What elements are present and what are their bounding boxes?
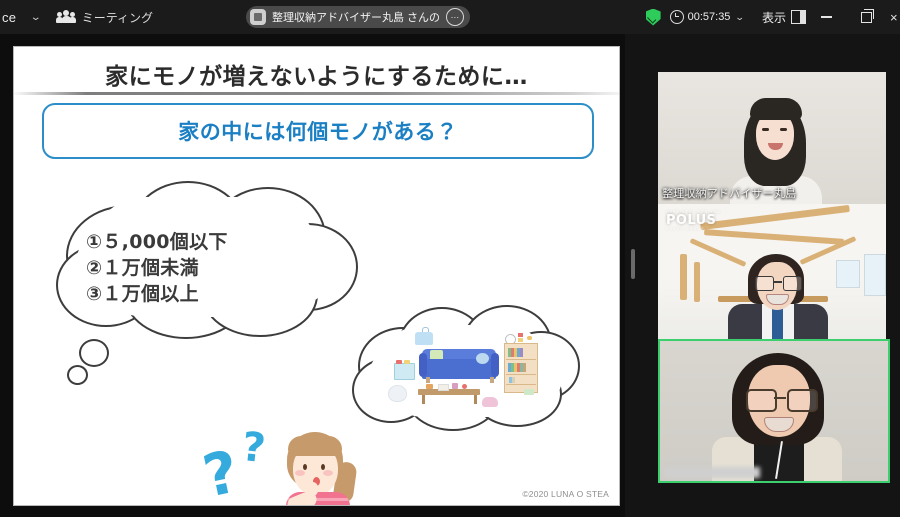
bookshelf-illustration: [504, 343, 538, 393]
meeting-indicator[interactable]: ミーティング: [57, 9, 153, 26]
answer-options: ①５,000個以下 ②１万個未満 ③１万個以上: [86, 229, 336, 307]
stuffed-toy-illustration: [482, 397, 498, 407]
slide-copyright: ©2020 LUNA O STEA: [522, 489, 609, 499]
answer-option-3: ③１万個以上: [86, 281, 336, 307]
participant-tile-3-active-speaker[interactable]: [658, 339, 890, 483]
question-mark-large: ?: [197, 437, 244, 506]
close-button[interactable]: ×: [886, 0, 900, 34]
meeting-timer[interactable]: 00:57:35 ⌄: [670, 10, 744, 24]
clock-icon: [670, 10, 684, 24]
window-titlebar: ce ⌄ ミーティング 整理収納アドバイザー丸島 さんの … 00:57:35 …: [0, 0, 900, 34]
thought-bubble-tail-small: [67, 365, 88, 385]
toy-yellow: [404, 360, 410, 364]
polus-watermark: HAPPINESS FOR YOU POLUS POLUS GROUP: [666, 210, 721, 231]
chevron-down-icon[interactable]: ⌄: [735, 12, 745, 23]
sofa-arm-left: [419, 353, 427, 377]
thinking-girl-illustration: [269, 432, 374, 506]
teams-meeting-window: ce ⌄ ミーティング 整理収納アドバイザー丸島 さんの … 00:57:35 …: [0, 0, 900, 517]
toy-red: [396, 360, 402, 364]
table-clutter: [452, 383, 458, 389]
layout-view-icon: [791, 10, 806, 24]
sofa-arm-right: [491, 353, 499, 377]
panel-resize-handle[interactable]: [628, 34, 638, 517]
room-thought-bubble: [352, 305, 577, 430]
close-icon: ×: [890, 10, 898, 25]
small-box-red: [518, 333, 523, 337]
answer-option-1: ①５,000個以下: [86, 229, 336, 255]
more-options-icon[interactable]: …: [446, 8, 464, 26]
sofa-leg: [490, 377, 494, 383]
timer-value: 00:57:35: [688, 11, 731, 23]
titlebar-right-cluster: 00:57:35 ⌄ 表示 ×: [646, 0, 900, 34]
low-table-illustration: [418, 389, 480, 395]
title-divider-rule: [14, 92, 619, 95]
people-group-icon: [57, 10, 75, 24]
titlebar-left-cluster: ce ⌄ ミーティング: [0, 0, 153, 34]
resize-grip-icon: [631, 249, 635, 279]
answer-option-2: ②１万個未満: [86, 255, 336, 281]
bag-illustration: [388, 385, 407, 402]
share-chip-label: 整理収納アドバイザー丸島 さんの: [272, 9, 440, 25]
shared-app-icon: [250, 9, 266, 25]
chevron-down-icon[interactable]: ⌄: [11, 12, 51, 23]
restore-window-button[interactable]: [846, 0, 886, 34]
hanging-shirt-illustration: [414, 327, 434, 345]
green-shield-check-icon: [646, 9, 661, 26]
room-illustration: [392, 327, 542, 409]
answer-thought-bubble: ①５,000個以下 ②１万個未満 ③１万個以上: [52, 177, 362, 347]
toy-box-illustration: [394, 363, 415, 380]
participant-tile-2[interactable]: HAPPINESS FOR YOU POLUS POLUS GROUP: [658, 204, 886, 339]
participant-name-label: 整理収納アドバイザー丸島: [662, 185, 796, 201]
question-mark-small: ?: [240, 424, 268, 472]
participant-name-label-redacted: [664, 467, 760, 478]
table-leg: [474, 395, 477, 404]
shared-screen-stage: 家にモノが増えないようにするために… 家の中には何個モノがある？ ①５,000個…: [0, 34, 625, 517]
participant-video-panel: 整理収納アドバイザー丸島 HAPPINESS FOR YOU POLUS POL…: [645, 34, 900, 517]
meeting-label: ミーティング: [82, 9, 153, 26]
question-text: 家の中には何個モノがある？: [178, 116, 458, 146]
sofa-cushion-blue: [476, 353, 489, 364]
sofa-leg: [426, 377, 430, 383]
screen-share-chip[interactable]: 整理収納アドバイザー丸島 さんの …: [246, 6, 470, 28]
question-callout-box: 家の中には何個モノがある？: [42, 103, 594, 159]
slide-title: 家にモノが増えないようにするために…: [14, 57, 619, 91]
table-leg: [422, 395, 425, 404]
small-toy: [527, 336, 532, 340]
polus-watermark-name: POLUS: [666, 214, 721, 227]
minimize-button[interactable]: [806, 0, 846, 34]
presentation-slide[interactable]: 家にモノが増えないようにするために… 家の中には何個モノがある？ ①５,000個…: [13, 46, 620, 506]
participant-tile-1[interactable]: 整理収納アドバイザー丸島: [658, 72, 886, 204]
table-clutter: [462, 384, 467, 389]
table-clutter: [426, 384, 433, 389]
money-illustration: [524, 389, 534, 395]
table-paper: [438, 384, 449, 391]
small-box-yellow: [518, 338, 523, 342]
view-label: 表示: [762, 9, 786, 26]
thought-bubble-tail-large: [79, 339, 109, 367]
view-menu-button[interactable]: 表示: [762, 9, 806, 26]
